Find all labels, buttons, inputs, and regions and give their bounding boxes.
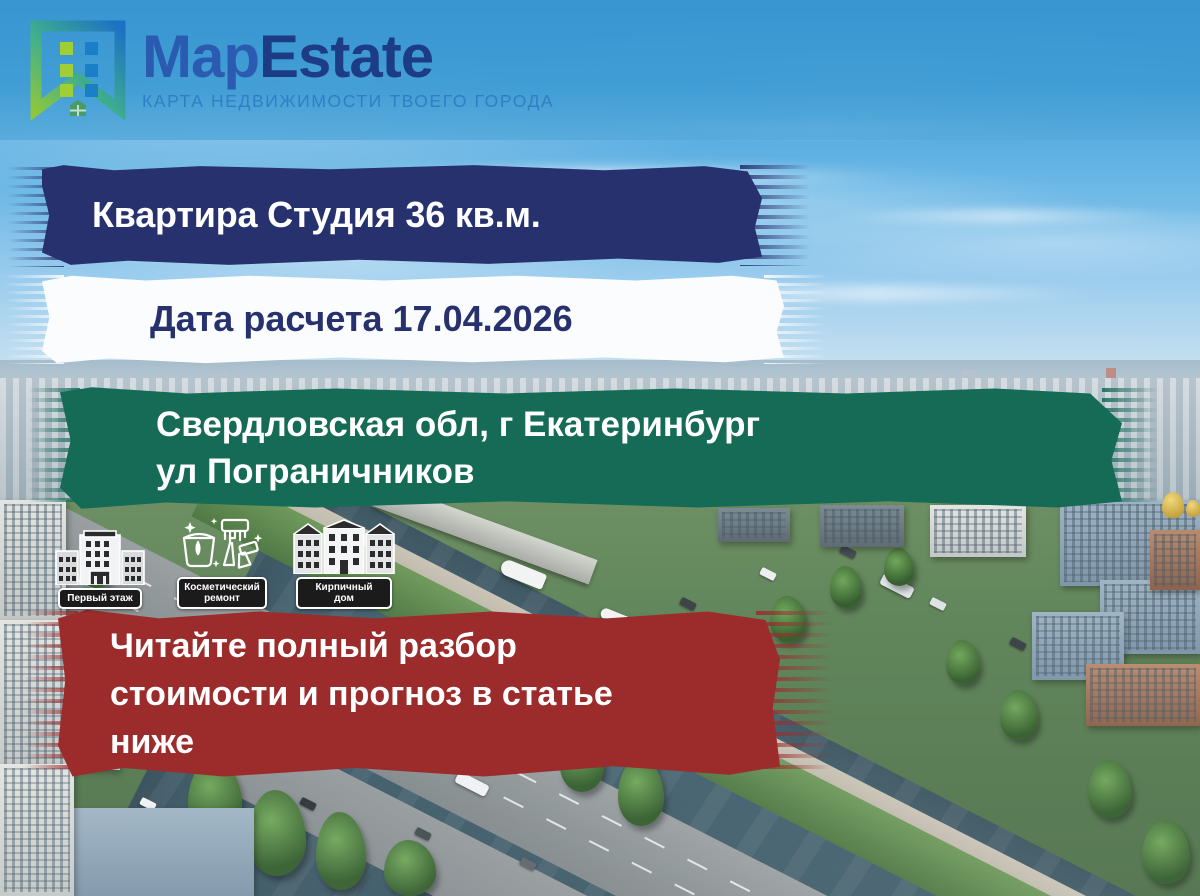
property-title-text: Квартира Студия 36 кв.м. — [92, 194, 762, 236]
cta-line-1: Читайте полный разбор — [110, 622, 780, 670]
address-line-2: ул Пограничников — [156, 448, 1122, 495]
badge-label: Кирпичный дом — [296, 577, 392, 609]
cta-line-3: ниже — [110, 718, 780, 766]
paint-renovation-icon — [178, 516, 266, 574]
brand-name-part2: Estate — [259, 23, 433, 90]
building — [930, 505, 1026, 557]
cta-banner: Читайте полный разбор стоимости и прогно… — [58, 608, 780, 780]
badge-brick-house: Кирпичный дом — [296, 516, 392, 609]
bookmark-building-icon — [30, 20, 126, 120]
brush-edge-left — [24, 611, 78, 776]
brush-edge-left — [4, 275, 64, 364]
brand-tagline: КАРТА НЕДВИЖИМОСТИ ТВОЕГО ГОРОДА — [142, 91, 554, 112]
cta-text: Читайте полный разбор стоимости и прогно… — [110, 622, 780, 767]
calculation-date-text: Дата расчета 17.04.2026 — [150, 298, 784, 340]
badge-cosmetic-renovation: Косметический ремонт — [174, 516, 270, 609]
church-dome — [1186, 500, 1200, 517]
property-title-banner: Квартира Студия 36 кв.м. — [42, 163, 762, 267]
feature-badges: Первый этаж — [52, 516, 392, 609]
brush-edge-left — [8, 167, 64, 267]
church-dome — [1162, 492, 1184, 518]
address-line-1: Свердловская обл, г Екатеринбург — [156, 401, 1122, 448]
address-text: Свердловская обл, г Екатеринбург ул Погр… — [156, 401, 1122, 496]
building — [64, 808, 254, 896]
address-banner: Свердловская обл, г Екатеринбург ул Погр… — [60, 386, 1122, 510]
brick-house-icon — [292, 516, 396, 574]
apartment-building-icon — [54, 527, 146, 585]
building — [1150, 530, 1200, 590]
building — [0, 764, 74, 896]
cloud-streak — [820, 210, 1180, 222]
cta-line-2: стоимости и прогноз в статье — [110, 670, 780, 718]
badge-first-floor: Первый этаж — [52, 527, 148, 609]
building — [1086, 664, 1200, 726]
calculation-date-banner: Дата расчета 17.04.2026 — [42, 272, 784, 366]
building — [718, 508, 790, 542]
badge-label: Косметический ремонт — [177, 577, 267, 609]
brush-edge-left — [28, 388, 80, 508]
building — [820, 505, 904, 547]
brand-name-part1: Map — [142, 23, 259, 90]
badge-label: Первый этаж — [58, 588, 141, 609]
property-promo-poster: MapEstate КАРТА НЕДВИЖИМОСТИ ТВОЕГО ГОРО… — [0, 0, 1200, 896]
brand-header: MapEstate КАРТА НЕДВИЖИМОСТИ ТВОЕГО ГОРО… — [0, 0, 1200, 140]
brand-name: MapEstate — [142, 28, 554, 85]
